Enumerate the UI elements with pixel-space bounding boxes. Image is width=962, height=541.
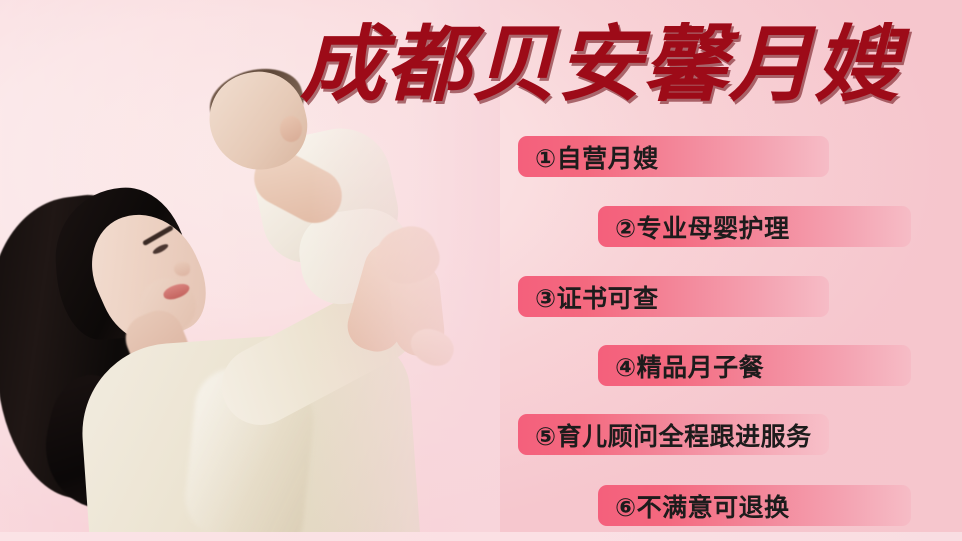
feature-item-6: ⑥不满意可退换 — [598, 485, 911, 526]
bottom-strip — [0, 532, 962, 541]
feature-item-2: ②专业母婴护理 — [598, 206, 911, 247]
feature-item-4: ④精品月子餐 — [598, 345, 911, 386]
promo-poster: 成都贝安馨月嫂 ①自营月嫂 ②专业母婴护理 ③证书可查 ④精品月子餐 ⑤育儿顾问… — [0, 0, 962, 541]
feature-item-3: ③证书可查 — [518, 276, 829, 317]
poster-title: 成都贝安馨月嫂 — [300, 12, 941, 116]
feature-item-5: ⑤育儿顾问全程跟进服务 — [518, 414, 829, 455]
feature-item-1: ①自营月嫂 — [518, 136, 829, 177]
